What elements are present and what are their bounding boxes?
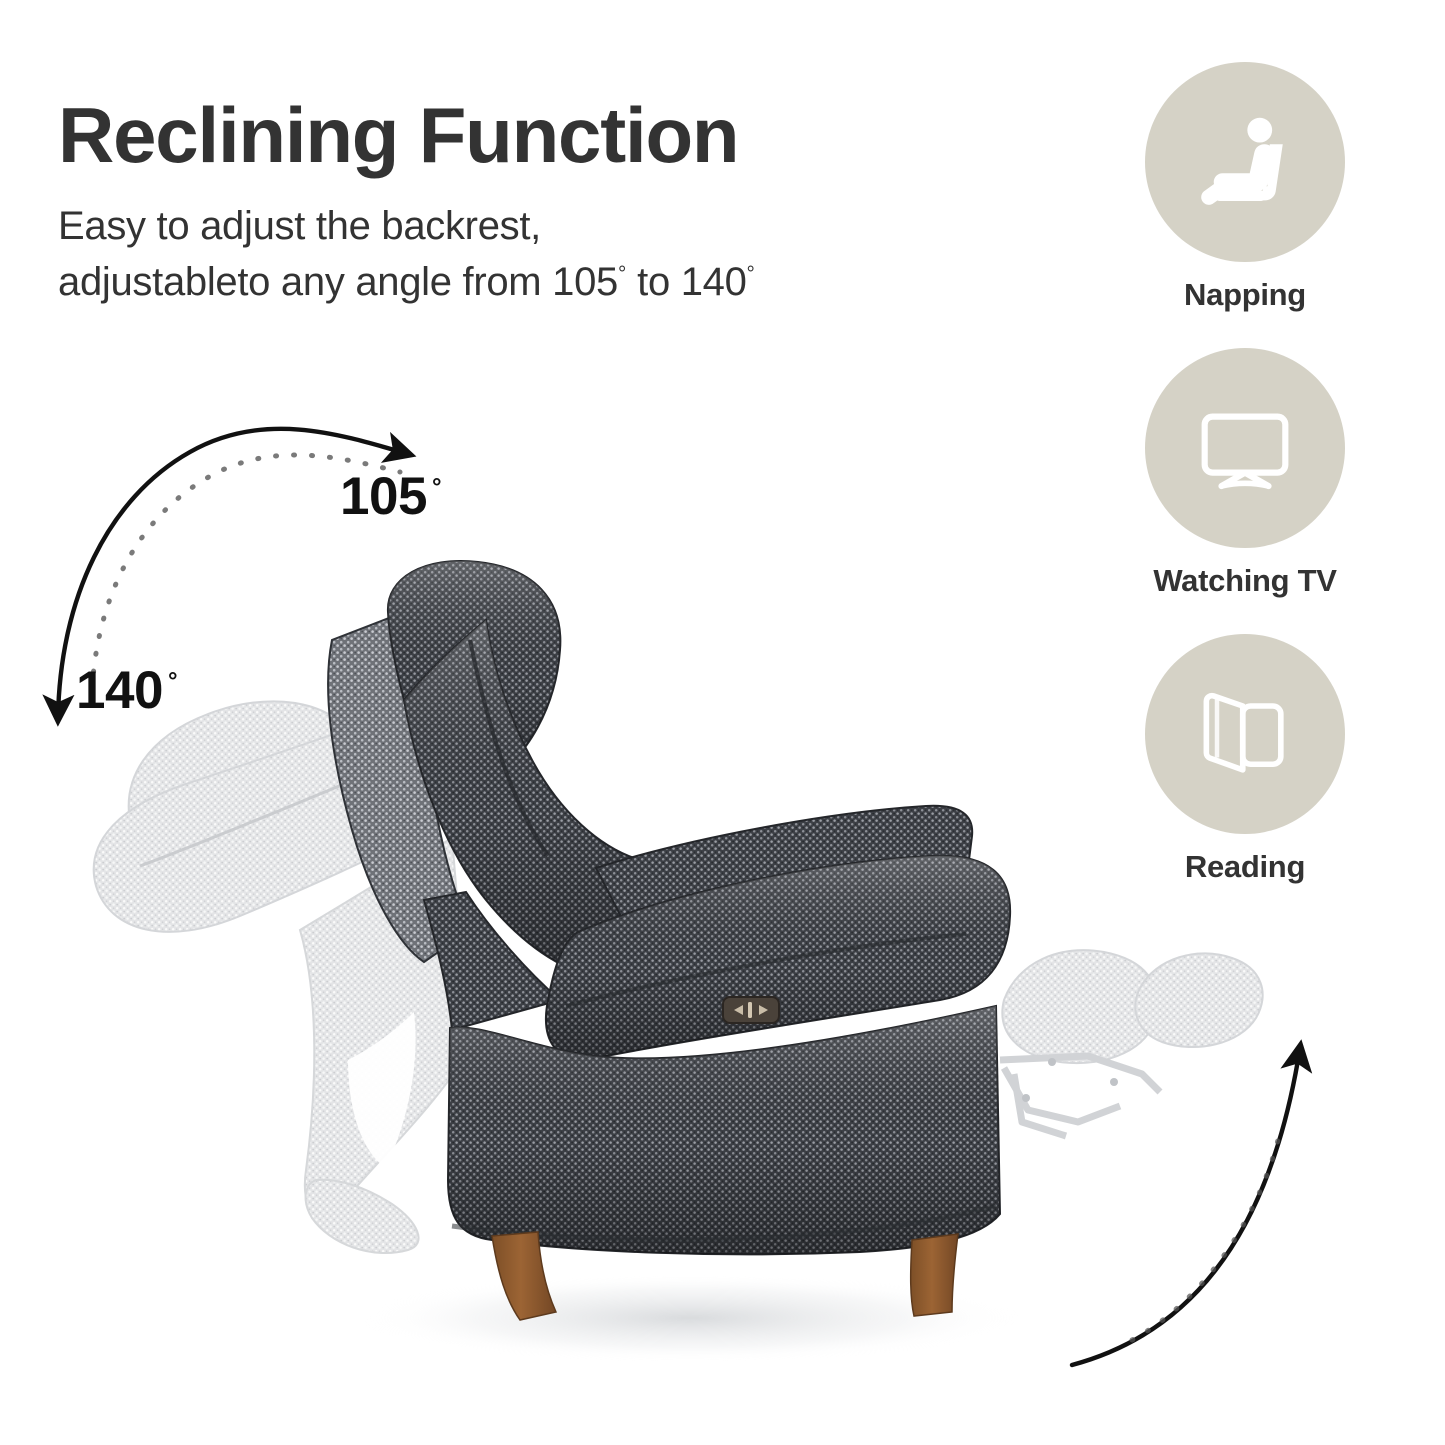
feature-label-watching-tv: Watching TV <box>1140 564 1350 598</box>
television-icon <box>1189 392 1301 504</box>
feature-icon-circle-watching-tv <box>1145 348 1345 548</box>
feature-napping[interactable]: Napping <box>1140 62 1350 312</box>
recline-control-button[interactable] <box>723 997 779 1023</box>
feature-label-napping: Napping <box>1140 278 1350 312</box>
infographic-canvas: Reclining Function Easy to adjust the ba… <box>0 0 1445 1445</box>
angle-label-105: 105° <box>340 466 441 527</box>
rear-wooden-leg <box>911 1234 958 1316</box>
feature-reading[interactable]: Reading <box>1140 634 1350 884</box>
feature-label-reading: Reading <box>1140 850 1350 884</box>
person-reclining-icon <box>1186 103 1304 221</box>
feature-icon-circle-napping <box>1145 62 1345 262</box>
angle-105-value: 105 <box>340 467 427 526</box>
feature-icon-circle-reading <box>1145 634 1345 834</box>
feature-watching-tv[interactable]: Watching TV <box>1140 348 1350 598</box>
angle-140-degree-symbol: ° <box>163 668 177 695</box>
open-book-icon <box>1189 678 1301 790</box>
angle-140-value: 140 <box>76 661 163 720</box>
use-case-feature-list: Napping Watching TV <box>1140 62 1350 920</box>
angle-105-degree-symbol: ° <box>427 474 441 501</box>
main-recliner-chair <box>328 561 1010 1320</box>
angle-label-140: 140° <box>76 660 177 721</box>
